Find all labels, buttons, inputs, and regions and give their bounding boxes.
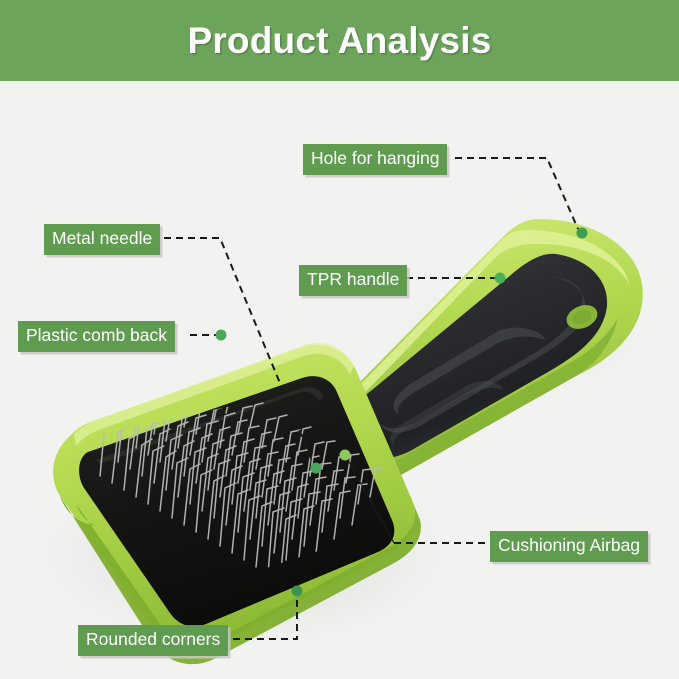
hotspot-cushioning-airbag[interactable] [340, 450, 351, 461]
leader-metal-needle [164, 238, 313, 463]
hotspot-plastic-comb-back[interactable] [216, 330, 227, 341]
callout-rounded-corners[interactable]: Rounded corners [78, 625, 228, 656]
callout-tpr-handle[interactable]: TPR handle [299, 265, 407, 296]
hotspot-hole-for-hanging[interactable] [577, 228, 588, 239]
leader-rounded-corners [233, 596, 297, 639]
callout-cushioning-airbag[interactable]: Cushioning Airbag [490, 531, 648, 562]
hotspot-metal-needle[interactable] [311, 463, 322, 474]
hotspot-rounded-corners[interactable] [292, 586, 303, 597]
callout-metal-needle[interactable]: Metal needle [44, 224, 160, 255]
callout-hole-for-hanging[interactable]: Hole for hanging [303, 144, 447, 175]
leader-cushioning-airbag-riser [348, 460, 394, 543]
annotation-layer: Hole for hanging Metal needle TPR handle… [0, 0, 679, 679]
product-analysis-page: Product Analysis [0, 0, 679, 679]
hotspot-tpr-handle[interactable] [495, 273, 506, 284]
callout-plastic-comb-back[interactable]: Plastic comb back [18, 321, 175, 352]
leader-hole-for-hanging [455, 158, 578, 229]
